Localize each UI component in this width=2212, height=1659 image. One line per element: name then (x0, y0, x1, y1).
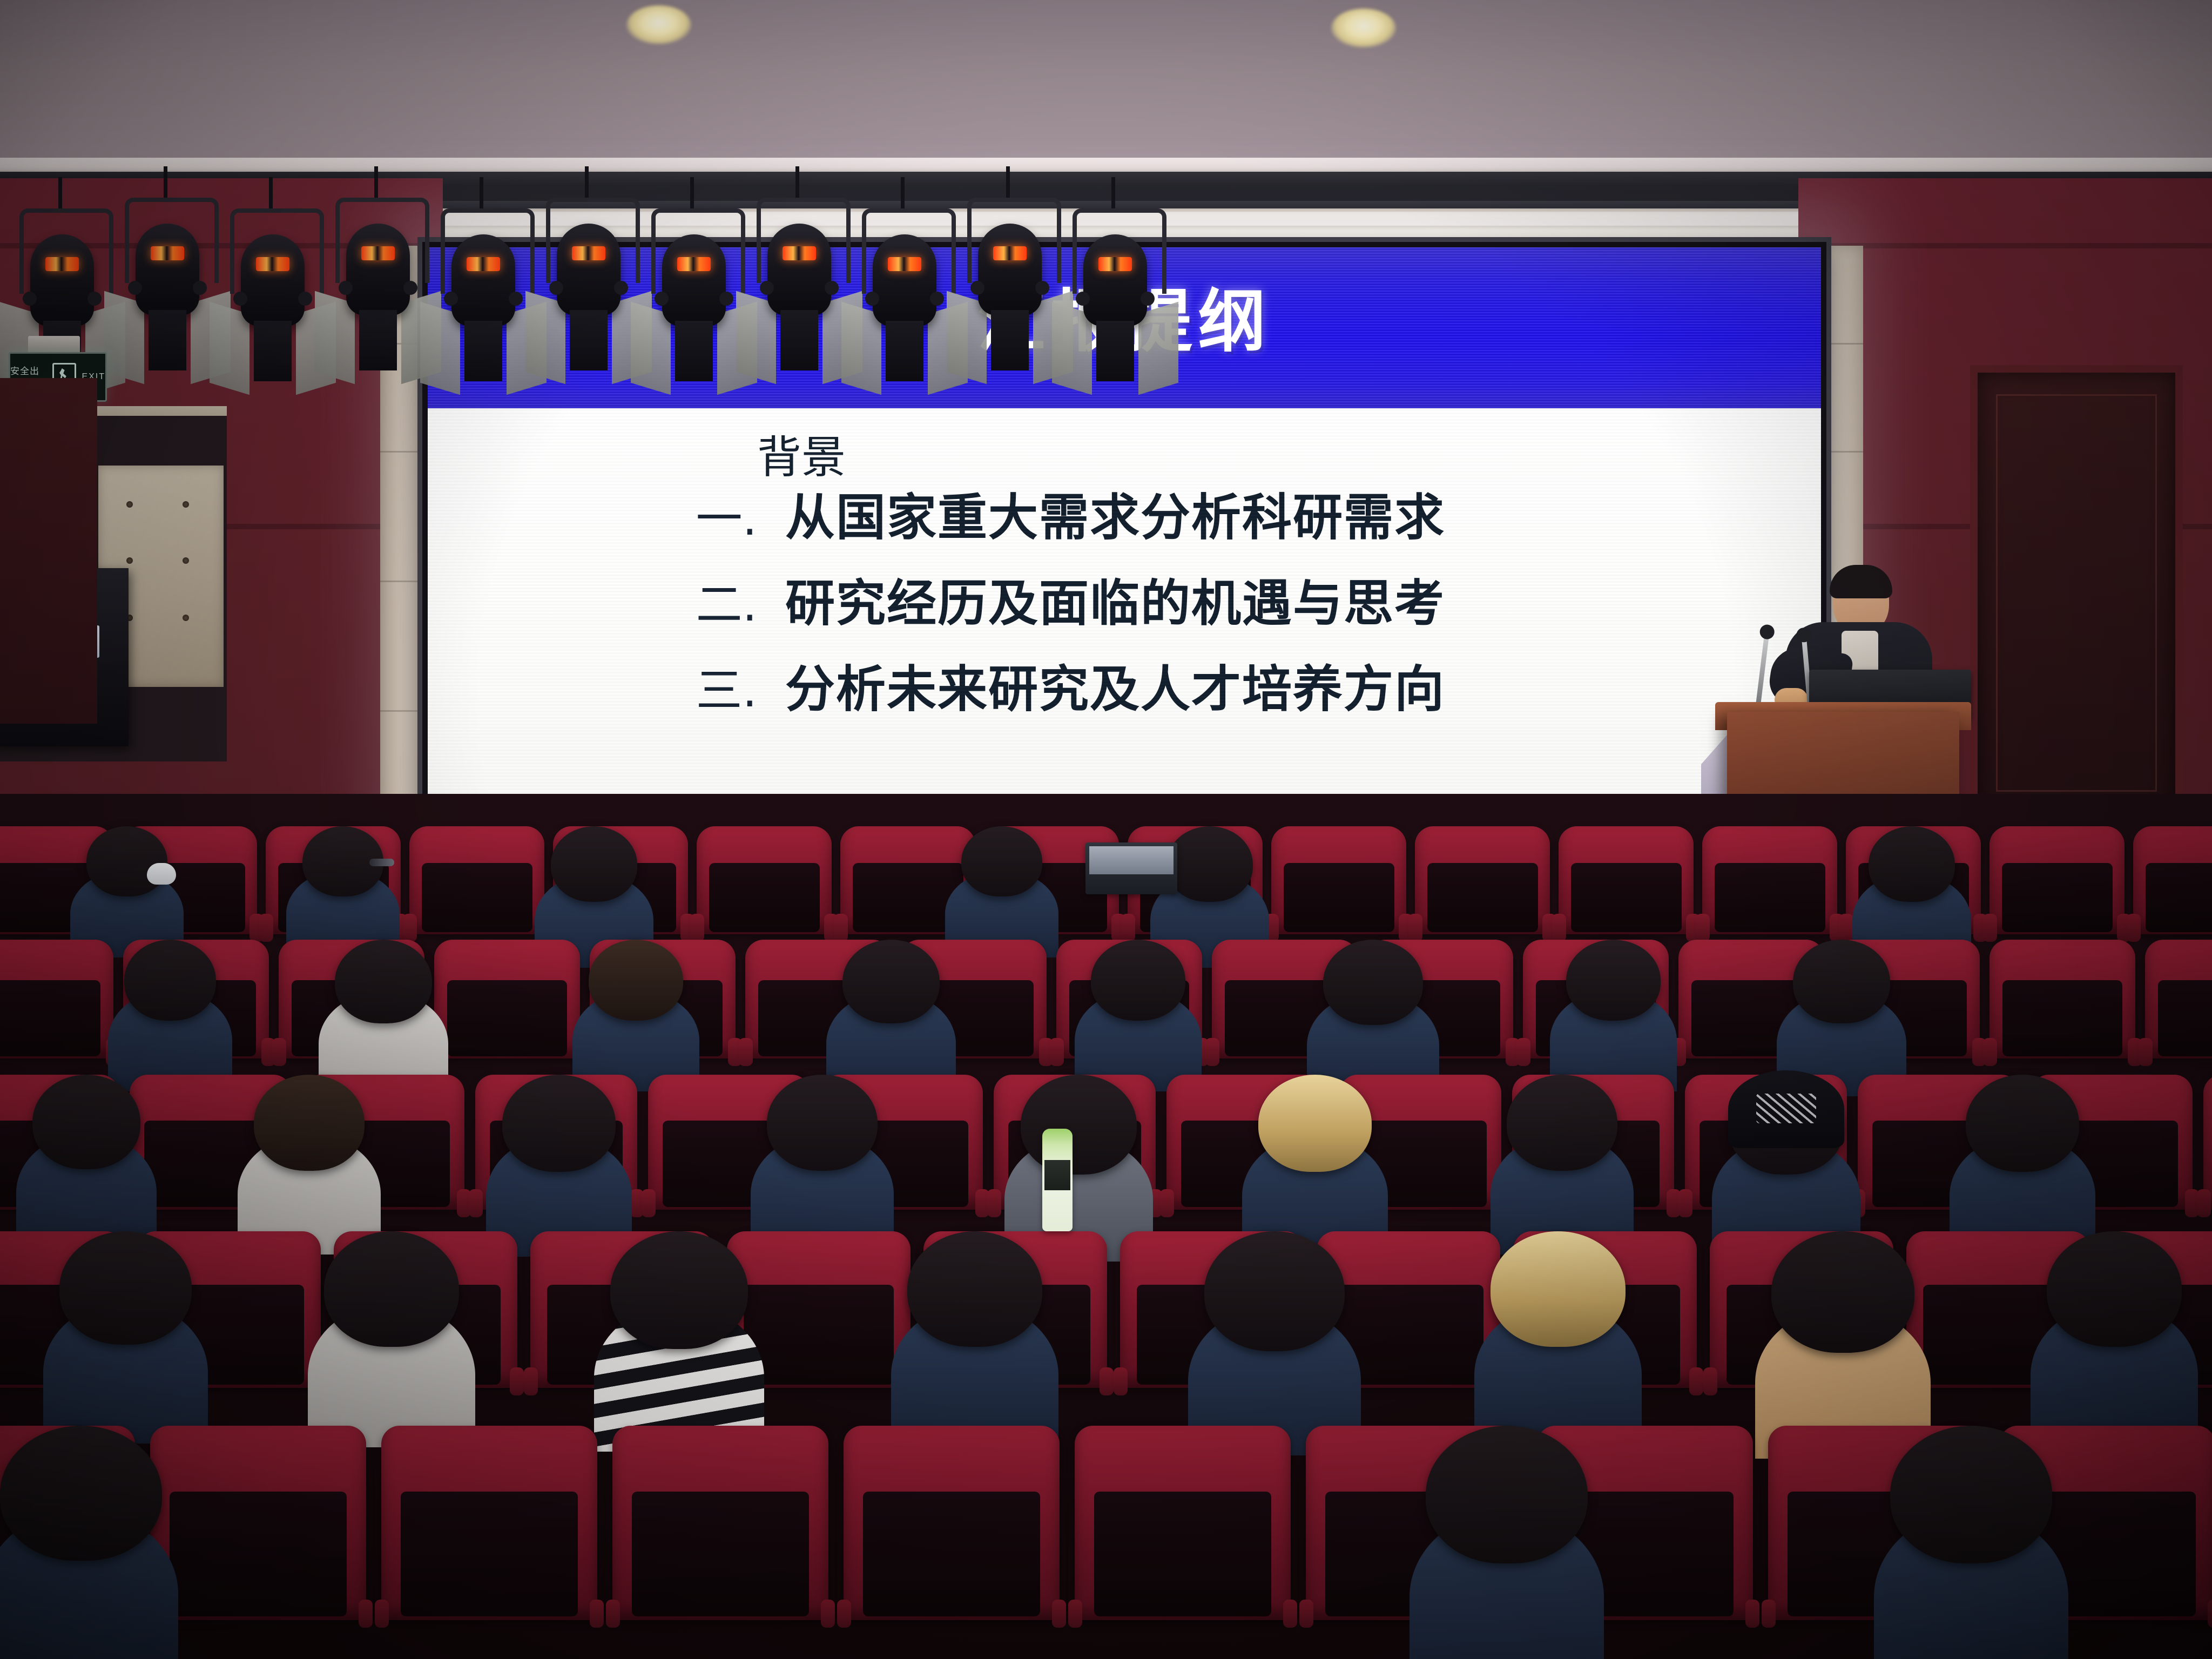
theater-seat (409, 826, 544, 934)
theater-seat (1415, 826, 1550, 934)
audience-member-head (324, 1231, 459, 1347)
audience-member-head (86, 826, 167, 896)
water-bottle (1042, 1129, 1073, 1231)
audience-member-head (1869, 826, 1955, 902)
auditorium-scene: 汇报提纲 背景 一. 从国家重大需求分析科研需求 二. 研究经历及面临的机遇与思… (0, 0, 2212, 1659)
baseball-cap (1728, 1070, 1844, 1148)
audience-member-head (1793, 940, 1890, 1023)
theater-seat (1271, 826, 1406, 934)
list-item-number: 三. (622, 652, 785, 720)
theater-seat (697, 826, 832, 934)
theater-seat (2145, 940, 2212, 1058)
list-item: 三. 分析未来研究及人才培养方向 (622, 649, 1648, 721)
audience-member-head (1966, 1075, 2079, 1172)
auditorium-door[interactable] (1970, 365, 2183, 828)
audience-member-head (1566, 940, 1661, 1021)
theater-seat (381, 1426, 597, 1620)
list-item: 一. 从国家重大需求分析科研需求 (622, 477, 1648, 549)
theater-seat (1990, 826, 2125, 934)
audience-member-head (1021, 1075, 1137, 1175)
theater-seat (1702, 826, 1837, 934)
audience-seating-area (0, 794, 2212, 1659)
audience-member-head (1166, 826, 1253, 902)
theater-seat (150, 1426, 366, 1620)
theater-seat (2203, 1075, 2212, 1210)
theater-seat (0, 940, 113, 1058)
audience-member-head (1507, 1075, 1617, 1171)
audience-member-head (610, 1231, 748, 1349)
audience-member-head (2047, 1231, 2182, 1347)
audience-member-head (335, 940, 432, 1023)
ceiling (0, 0, 2212, 162)
list-item-number: 一. (622, 481, 785, 548)
audience-member-head (1323, 940, 1423, 1025)
audience-member-head (502, 1075, 616, 1172)
audience-member-head (551, 826, 637, 902)
ceiling-downlight-icon (626, 5, 691, 44)
audience-member-head (0, 1426, 162, 1561)
audience-member-head (1771, 1231, 1914, 1353)
theater-seat (1990, 940, 2135, 1058)
audience-member-head (1091, 940, 1185, 1021)
theater-seat (2133, 826, 2212, 934)
audience-member-head (1890, 1426, 2052, 1563)
audience-member-head (961, 826, 1042, 896)
audience-member-head (589, 940, 683, 1021)
slide-preamble: 背景 (757, 421, 846, 485)
slide-body: 背景 一. 从国家重大需求分析科研需求 二. 研究经历及面临的机遇与思考 三. … (428, 409, 1821, 847)
audience-member-head (59, 1231, 192, 1345)
right-wall-recess (0, 378, 97, 724)
slide-outline-list: 一. 从国家重大需求分析科研需求 二. 研究经历及面临的机遇与思考 三. 分析未… (622, 477, 1648, 735)
audience-member-head (32, 1075, 140, 1169)
list-item-text: 研究经历及面临的机遇与思考 (785, 563, 1445, 635)
list-item-text: 从国家重大需求分析科研需求 (785, 477, 1445, 549)
face-mask (147, 863, 176, 885)
audience-member-head (907, 1231, 1042, 1347)
audience-member-head (124, 940, 216, 1021)
audience-member-head (767, 1075, 878, 1171)
audience-laptop[interactable] (1085, 842, 1177, 894)
list-item: 二. 研究经历及面临的机遇与思考 (622, 563, 1648, 635)
theater-seat (844, 1426, 1060, 1620)
audience-member-head (254, 1075, 365, 1171)
eyeglasses-icon (369, 859, 394, 866)
theater-seat (612, 1426, 828, 1620)
list-item-number: 二. (622, 567, 785, 634)
audience-member-head (842, 940, 940, 1023)
audience-member-head (1258, 1075, 1372, 1172)
audience-member-head (1426, 1426, 1588, 1563)
audience-member-head (1491, 1231, 1626, 1347)
presenter-hair (1830, 565, 1892, 598)
theater-seat (434, 940, 580, 1058)
list-item-text: 分析未来研究及人才培养方向 (785, 649, 1445, 721)
theater-seat (1559, 826, 1694, 934)
audience-member-head (1204, 1231, 1345, 1351)
ceiling-downlight-icon (1331, 9, 1396, 48)
theater-seat (1075, 1426, 1291, 1620)
exit-sign-housing (28, 336, 80, 354)
